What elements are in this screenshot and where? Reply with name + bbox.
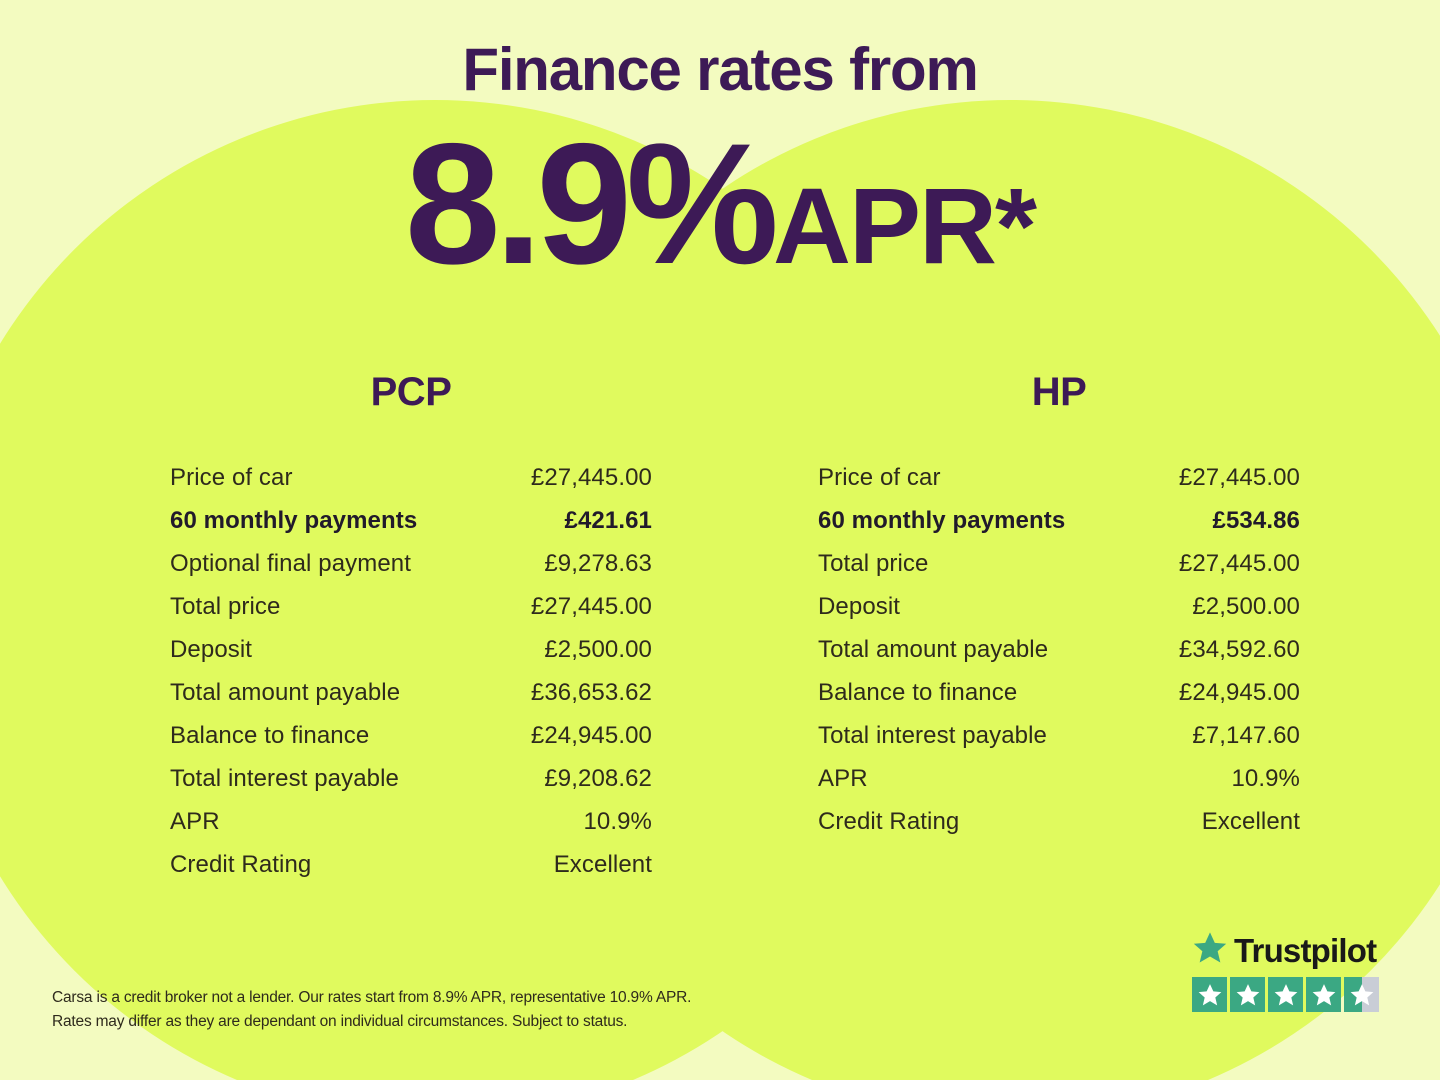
row-label: Price of car [170,464,293,492]
table-row: APR10.9% [170,808,652,851]
row-value: £9,208.62 [544,765,652,793]
rating-star-full [1306,977,1341,1012]
table-row: Balance to finance£24,945.00 [818,679,1300,722]
table-row: Total interest payable£9,208.62 [170,765,652,808]
trustpilot-badge[interactable]: Trustpilot [1192,930,1392,1012]
trustpilot-rating-stars [1192,977,1392,1012]
table-row: Total amount payable£34,592.60 [818,636,1300,679]
table-row: Deposit£2,500.00 [818,593,1300,636]
row-value: £27,445.00 [1179,464,1300,492]
table-row: 60 monthly payments£534.86 [818,507,1300,550]
row-label: APR [818,765,868,793]
row-label: APR [170,808,220,836]
disclaimer: Carsa is a credit broker not a lender. O… [52,986,812,1034]
row-value: £421.61 [565,507,652,535]
disclaimer-line-2: Rates may differ as they are dependant o… [52,1010,812,1034]
row-label: Balance to finance [818,679,1017,707]
row-label: Total interest payable [170,765,399,793]
rating-star-full [1230,977,1265,1012]
row-label: 60 monthly payments [170,507,417,535]
table-row: Total price£27,445.00 [170,593,652,636]
plan-rows-hp: Price of car£27,445.0060 monthly payment… [818,464,1300,851]
rating-star-full [1268,977,1303,1012]
table-row: Total amount payable£36,653.62 [170,679,652,722]
table-row: APR10.9% [818,765,1300,808]
row-value: £534.86 [1213,507,1300,535]
row-value: £7,147.60 [1192,722,1300,750]
table-row: Price of car£27,445.00 [818,464,1300,507]
table-row: Total price£27,445.00 [818,550,1300,593]
trustpilot-wordmark: Trustpilot [1192,930,1392,970]
trustpilot-name: Trustpilot [1234,934,1376,967]
finance-rates-promo-card: Finance rates from 8.9%APR* PCP Price of… [0,0,1440,1080]
table-row: Optional final payment£9,278.63 [170,550,652,593]
row-label: Total amount payable [818,636,1048,664]
trustpilot-star-icon [1192,930,1228,971]
plan-column-hp: HP Price of car£27,445.0060 monthly paym… [818,372,1300,851]
row-label: Optional final payment [170,550,411,578]
row-value: £27,445.00 [531,464,652,492]
table-row: Credit RatingExcellent [818,808,1300,851]
row-value: £27,445.00 [1179,550,1300,578]
plan-title-hp: HP [818,372,1300,412]
row-label: Deposit [818,593,900,621]
row-value: £24,945.00 [531,722,652,750]
rating-star-full [1192,977,1227,1012]
disclaimer-line-1: Carsa is a credit broker not a lender. O… [52,986,812,1010]
plan-column-pcp: PCP Price of car£27,445.0060 monthly pay… [170,372,652,894]
apr-rate-value: 8.9% [405,108,773,300]
row-label: 60 monthly payments [818,507,1065,535]
page-title: Finance rates from [0,40,1440,100]
row-label: Price of car [818,464,941,492]
row-value: £24,945.00 [1179,679,1300,707]
row-value: Excellent [1202,808,1300,836]
row-value: 10.9% [583,808,652,836]
row-value: £36,653.62 [531,679,652,707]
row-label: Total price [818,550,928,578]
table-row: Total interest payable£7,147.60 [818,722,1300,765]
row-label: Total amount payable [170,679,400,707]
table-row: Price of car£27,445.00 [170,464,652,507]
row-label: Total interest payable [818,722,1047,750]
headline-rate: 8.9%APR* [0,118,1440,290]
plan-title-pcp: PCP [170,372,652,412]
row-value: £34,592.60 [1179,636,1300,664]
row-value: 10.9% [1231,765,1300,793]
row-value: £27,445.00 [531,593,652,621]
apr-rate-unit: APR* [773,165,1035,286]
row-value: £2,500.00 [544,636,652,664]
row-label: Credit Rating [170,851,311,879]
row-label: Total price [170,593,280,621]
table-row: Deposit£2,500.00 [170,636,652,679]
table-row: Balance to finance£24,945.00 [170,722,652,765]
rating-star-half [1344,977,1379,1012]
table-row: 60 monthly payments£421.61 [170,507,652,550]
row-value: £9,278.63 [544,550,652,578]
row-label: Balance to finance [170,722,369,750]
row-label: Credit Rating [818,808,959,836]
plan-rows-pcp: Price of car£27,445.0060 monthly payment… [170,464,652,894]
row-label: Deposit [170,636,252,664]
row-value: £2,500.00 [1192,593,1300,621]
row-value: Excellent [554,851,652,879]
table-row: Credit RatingExcellent [170,851,652,894]
